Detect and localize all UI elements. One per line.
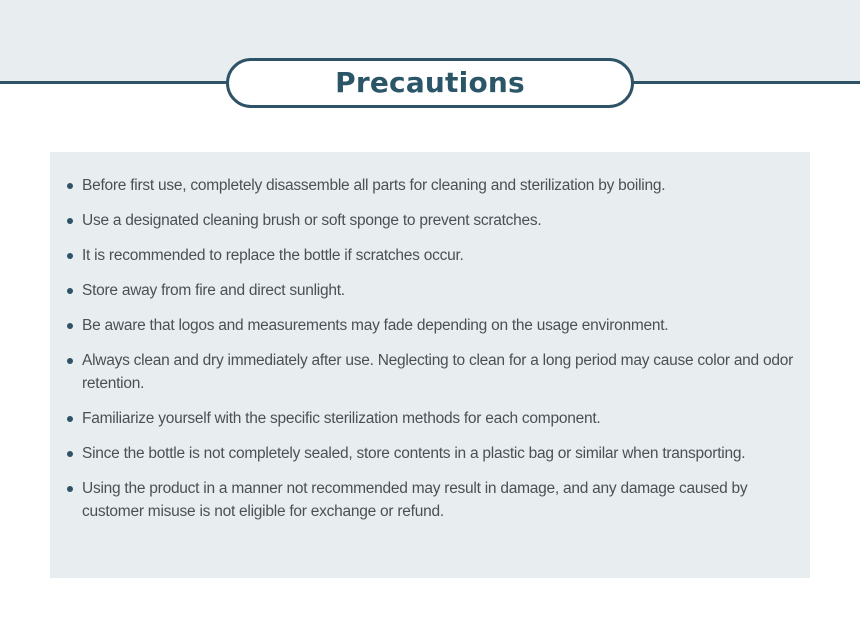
list-item-text: Store away from fire and direct sunlight…	[82, 282, 345, 299]
bullet-dot-icon	[67, 253, 73, 259]
list-item: It is recommended to replace the bottle …	[64, 244, 796, 267]
list-item: Always clean and dry immediately after u…	[64, 349, 796, 395]
bullet-dot-icon	[67, 323, 73, 329]
list-item-text: Be aware that logos and measurements may…	[82, 317, 668, 334]
list-item: Use a designated cleaning brush or soft …	[64, 209, 796, 232]
bullet-dot-icon	[67, 486, 73, 492]
bullet-dot-icon	[67, 218, 73, 224]
list-item: Since the bottle is not completely seale…	[64, 442, 796, 465]
section-title-pill: Precautions	[226, 58, 634, 108]
list-item-text: Use a designated cleaning brush or soft …	[82, 212, 541, 229]
list-item: Be aware that logos and measurements may…	[64, 314, 796, 337]
precautions-list: Before first use, completely disassemble…	[64, 174, 796, 523]
list-item-text: Always clean and dry immediately after u…	[82, 352, 793, 392]
list-item-text: It is recommended to replace the bottle …	[82, 247, 464, 264]
bullet-dot-icon	[67, 183, 73, 189]
precautions-panel: Before first use, completely disassemble…	[50, 152, 810, 578]
bullet-dot-icon	[67, 451, 73, 457]
list-item-text: Since the bottle is not completely seale…	[82, 445, 745, 462]
page-title: Precautions	[335, 69, 525, 97]
list-item: Before first use, completely disassemble…	[64, 174, 796, 197]
list-item-text: Familiarize yourself with the specific s…	[82, 410, 600, 427]
list-item: Store away from fire and direct sunlight…	[64, 279, 796, 302]
list-item: Familiarize yourself with the specific s…	[64, 407, 796, 430]
bullet-dot-icon	[67, 358, 73, 364]
list-item-text: Before first use, completely disassemble…	[82, 177, 665, 194]
bullet-dot-icon	[67, 288, 73, 294]
list-item: Using the product in a manner not recomm…	[64, 477, 796, 523]
list-item-text: Using the product in a manner not recomm…	[82, 480, 747, 520]
bullet-dot-icon	[67, 416, 73, 422]
